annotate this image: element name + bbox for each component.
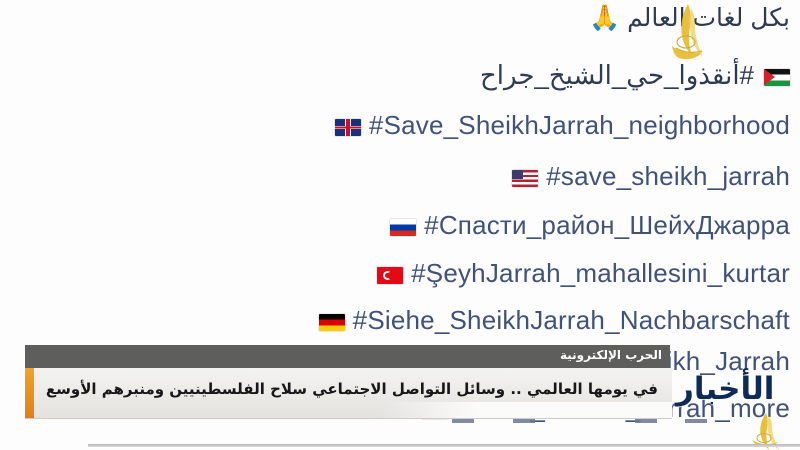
russia-flag-icon bbox=[390, 219, 416, 236]
post-line-intro-text: بكل لغات العالم 🙏 bbox=[589, 4, 790, 32]
post-line-arabic: #أنقذوا_حي_الشيخ_جراح bbox=[480, 62, 790, 88]
post-line-german: #Siehe_SheikhJarrah_Nachbarschaft bbox=[319, 307, 790, 333]
text-artifact bbox=[685, 419, 707, 423]
post-line-german-text: #Siehe_SheikhJarrah_Nachbarschaft bbox=[353, 305, 790, 335]
post-line-english-us: #save_sheikh_jarrah bbox=[512, 163, 790, 189]
post-line-intro: بكل لغات العالم 🙏 bbox=[589, 6, 790, 31]
turkey-flag-icon bbox=[377, 267, 403, 284]
post-line-arabic-text: #أنقذوا_حي_الشيخ_جراح bbox=[480, 60, 754, 90]
post-line-english-uk-text: #Save_SheikhJarrah_neighborhood bbox=[369, 110, 790, 140]
section-bar: الحرب الإلكترونية bbox=[25, 345, 670, 368]
channel-name: الأخبار bbox=[676, 371, 774, 407]
post-line-turkish-text: #ŞeyhJarrah_mahallesini_kurtar bbox=[411, 258, 790, 288]
headline-panel: في يومها العالمي .. وسائل التواصل الاجتم… bbox=[25, 368, 672, 419]
text-artifact bbox=[513, 419, 535, 423]
post-line-english-uk: #Save_SheikhJarrah_neighborhood bbox=[335, 112, 790, 138]
post-line-russian: #Спасти_район_ШейхДжарра bbox=[390, 212, 790, 238]
post-line-english-us-text: #save_sheikh_jarrah bbox=[546, 161, 790, 191]
united-kingdom-flag-icon bbox=[335, 119, 361, 136]
united-states-flag-icon bbox=[512, 170, 538, 187]
broadcast-screen: بكل لغات العالم 🙏 #أنقذوا_حي_الشيخ_جراح … bbox=[0, 0, 800, 450]
text-artifact bbox=[635, 419, 657, 423]
headline-text: في يومها العالمي .. وسائل التواصل الاجتم… bbox=[43, 380, 658, 398]
text-artifact bbox=[452, 419, 474, 423]
post-line-russian-text: #Спасти_район_ШейхДжарра bbox=[424, 210, 790, 240]
section-label: الحرب الإلكترونية bbox=[560, 348, 662, 362]
germany-flag-icon bbox=[319, 314, 345, 331]
palestine-flag-icon bbox=[764, 69, 790, 86]
post-line-turkish: #ŞeyhJarrah_mahallesini_kurtar bbox=[377, 260, 790, 286]
bottom-divider bbox=[88, 444, 800, 447]
headline-accent-bar bbox=[25, 368, 34, 418]
